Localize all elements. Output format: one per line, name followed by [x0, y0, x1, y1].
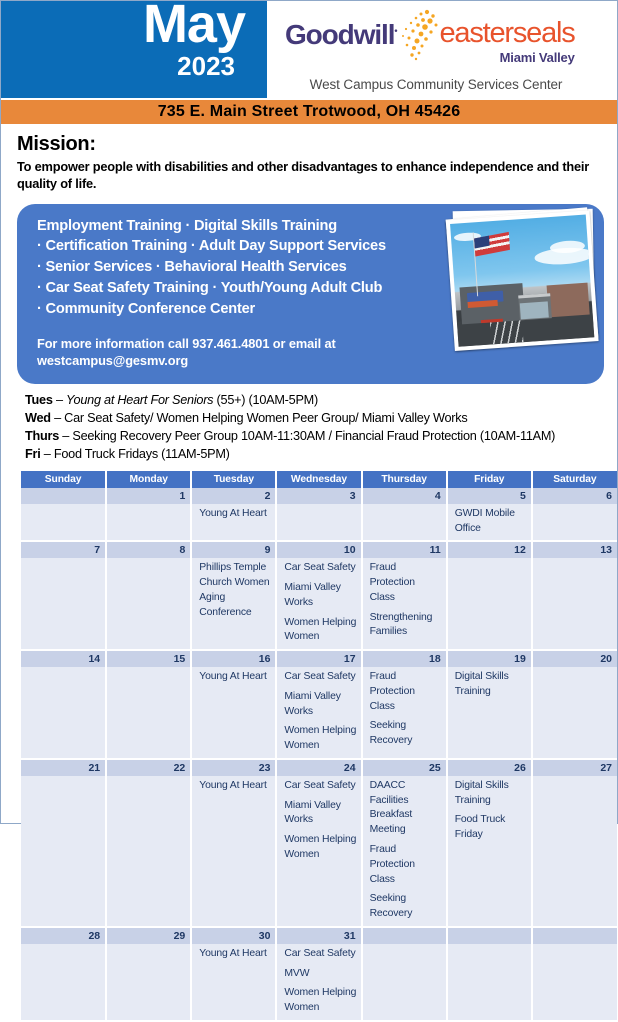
- photo-frame: [446, 210, 599, 351]
- calendar-day-cell[interactable]: [362, 504, 447, 542]
- calendar-daynum-row: 123456: [21, 488, 617, 504]
- weekday-label: Thurs: [25, 429, 59, 443]
- dash: –: [59, 429, 72, 443]
- calendar-body: 123456Young At HeartGWDI Mobile Office78…: [21, 488, 617, 1021]
- calendar-day-cell[interactable]: Car Seat SafetyMiami Valley WorksWomen H…: [276, 776, 361, 927]
- calendar-day-cell[interactable]: Car Seat SafetyMiami Valley WorksWomen H…: [276, 558, 361, 650]
- goodwill-wordmark: Goodwill•: [285, 9, 396, 49]
- services-section: Employment Training · Digital Skills Tra…: [17, 204, 604, 384]
- day-number: [532, 927, 617, 944]
- calendar-day-cell[interactable]: [21, 504, 106, 542]
- weekly-schedule: Tues – Young at Heart For Seniors (55+) …: [25, 391, 603, 463]
- calendar-header-row: SundayMondayTuesdayWednesdayThursdayFrid…: [21, 471, 617, 488]
- contact-email-line: westcampus@gesmv.org: [37, 353, 588, 370]
- calendar-day-cell[interactable]: [276, 504, 361, 542]
- brick-wing: [547, 282, 590, 317]
- service-line: · Car Seat Safety Training · Youth/Young…: [37, 278, 457, 299]
- weekday-label: Tues: [25, 393, 53, 407]
- calendar-event[interactable]: Young At Heart: [199, 947, 271, 962]
- calendar-week-row: Phillips Temple Church Women Aging Confe…: [21, 558, 617, 650]
- easterseals-wordmark: easterseals: [439, 19, 574, 48]
- calendar-day-cell[interactable]: [21, 776, 106, 927]
- service-line: · Senior Services · Behavioral Health Se…: [37, 257, 457, 278]
- calendar-event[interactable]: Women Helping Women: [284, 833, 356, 863]
- calendar-column-header-sunday: Sunday: [21, 471, 106, 488]
- dash: –: [40, 447, 53, 461]
- calendar-day-cell[interactable]: Fraud Protection ClassStrengthening Fami…: [362, 558, 447, 650]
- month-block: May 2023: [1, 1, 267, 98]
- day-number: 2: [191, 488, 276, 504]
- day-number: 3: [276, 488, 361, 504]
- day-number: [362, 927, 447, 944]
- day-number: 14: [21, 650, 106, 667]
- mission-section: Mission: To empower people with disabili…: [1, 124, 617, 197]
- calendar-week-row: Young At HeartCar Seat SafetyMiami Valle…: [21, 667, 617, 759]
- calendar-column-header-wednesday: Wednesday: [276, 471, 361, 488]
- day-number: 16: [191, 650, 276, 667]
- handrail: [490, 320, 524, 344]
- calendar-event[interactable]: Young At Heart: [199, 507, 271, 522]
- calendar-day-cell[interactable]: [21, 944, 106, 1021]
- day-number: 24: [276, 759, 361, 776]
- calendar-event[interactable]: Young At Heart: [199, 670, 271, 685]
- calendar-column-header-saturday: Saturday: [532, 471, 617, 488]
- calendar-event[interactable]: Seeking Recovery: [370, 892, 442, 922]
- day-number: 9: [191, 541, 276, 558]
- calendar-event[interactable]: Miami Valley Works: [284, 581, 356, 611]
- calendar-day-cell[interactable]: Fraud Protection ClassSeeking Recovery: [362, 667, 447, 759]
- service-line: · Certification Training · Adult Day Sup…: [37, 236, 457, 257]
- building-photo: [445, 205, 602, 351]
- day-number: 22: [106, 759, 191, 776]
- entrance-glass: [520, 301, 550, 319]
- services-box: Employment Training · Digital Skills Tra…: [17, 204, 604, 384]
- calendar-column-header-tuesday: Tuesday: [191, 471, 276, 488]
- program-name-italic: Young at Heart For Seniors: [66, 393, 213, 407]
- calendar-day-cell[interactable]: Phillips Temple Church Women Aging Confe…: [191, 558, 276, 650]
- day-number: 18: [362, 650, 447, 667]
- calendar-day-cell[interactable]: Young At Heart: [191, 944, 276, 1021]
- calendar-day-cell[interactable]: [532, 558, 617, 650]
- day-number: [447, 927, 532, 944]
- weekly-schedule-row: Thurs – Seeking Recovery Peer Group 10AM…: [25, 427, 603, 445]
- calendar-event[interactable]: Car Seat Safety: [284, 947, 356, 962]
- day-number: 12: [447, 541, 532, 558]
- mission-title: Mission:: [17, 133, 603, 156]
- calendar-day-cell[interactable]: Digital Skills TrainingFood Truck Friday: [447, 776, 532, 927]
- calendar-day-cell[interactable]: Young At Heart: [191, 776, 276, 927]
- calendar-event[interactable]: Fraud Protection Class: [370, 670, 442, 714]
- header-band: May 2023 Goodwill•: [1, 1, 617, 98]
- schedule-detail: Car Seat Safety/ Women Helping Women Pee…: [64, 411, 467, 425]
- schedule-detail: (55+) (10AM-5PM): [213, 393, 318, 407]
- calendar-event[interactable]: Food Truck Friday: [455, 813, 527, 843]
- calendar-event[interactable]: Women Helping Women: [284, 986, 356, 1016]
- calendar-daynum-row: 78910111213: [21, 541, 617, 558]
- weekly-schedule-row: Wed – Car Seat Safety/ Women Helping Wom…: [25, 409, 603, 427]
- calendar-day-cell[interactable]: [106, 776, 191, 927]
- day-number: 23: [191, 759, 276, 776]
- day-number: 30: [191, 927, 276, 944]
- calendar-event[interactable]: Strengthening Families: [370, 611, 442, 641]
- calendar-day-cell[interactable]: Car Seat SafetyMVWWomen Helping Women: [276, 944, 361, 1021]
- address-band: 735 E. Main Street Trotwood, OH 45426: [1, 98, 617, 124]
- day-number: [21, 488, 106, 504]
- calendar-daynum-row: 21222324252627: [21, 759, 617, 776]
- day-number: 21: [21, 759, 106, 776]
- calendar-event[interactable]: DAACC Facilities Breakfast Meeting: [370, 779, 442, 838]
- day-number: 31: [276, 927, 361, 944]
- photo-image: [450, 214, 594, 346]
- calendar-day-cell[interactable]: [532, 504, 617, 542]
- calendar-day-cell[interactable]: Young At Heart: [191, 667, 276, 759]
- dash: –: [53, 393, 66, 407]
- calendar-day-cell[interactable]: [106, 667, 191, 759]
- day-number: 20: [532, 650, 617, 667]
- calendar-event[interactable]: MVW: [284, 967, 356, 982]
- day-number: 17: [276, 650, 361, 667]
- calendar-event[interactable]: Car Seat Safety: [284, 779, 356, 794]
- day-number: 5: [447, 488, 532, 504]
- calendar-day-cell[interactable]: [447, 558, 532, 650]
- campus-name: West Campus Community Services Center: [267, 77, 605, 92]
- day-number: 11: [362, 541, 447, 558]
- calendar-day-cell[interactable]: [362, 944, 447, 1021]
- weekly-schedule-row: Fri – Food Truck Fridays (11AM-5PM): [25, 445, 603, 463]
- registered-trademark-icon: •: [394, 26, 396, 36]
- goodwill-text: Goodwill: [285, 19, 394, 50]
- calendar-week-row: Young At HeartCar Seat SafetyMiami Valle…: [21, 776, 617, 927]
- dash: –: [51, 411, 64, 425]
- schedule-detail: Seeking Recovery Peer Group 10AM-11:30AM…: [72, 429, 555, 443]
- service-line: Employment Training · Digital Skills Tra…: [37, 216, 457, 237]
- calendar-day-cell[interactable]: [532, 944, 617, 1021]
- schedule-detail: Food Truck Fridays (11AM-5PM): [54, 447, 230, 461]
- calendar-event[interactable]: Fraud Protection Class: [370, 561, 442, 605]
- calendar-event[interactable]: Phillips Temple Church Women Aging Confe…: [199, 561, 271, 620]
- calendar-day-cell[interactable]: [447, 944, 532, 1021]
- calendar-day-cell[interactable]: DAACC Facilities Breakfast MeetingFraud …: [362, 776, 447, 927]
- calendar-daynum-row: 14151617181920: [21, 650, 617, 667]
- weekday-label: Fri: [25, 447, 40, 461]
- day-number: 25: [362, 759, 447, 776]
- calendar-event[interactable]: Digital Skills Training: [455, 779, 527, 809]
- logo-zone: Goodwill•: [267, 1, 617, 98]
- day-number: 13: [532, 541, 617, 558]
- day-number: 27: [532, 759, 617, 776]
- calendar-day-cell[interactable]: [532, 667, 617, 759]
- weekday-label: Wed: [25, 411, 51, 425]
- calendar-column-header-thursday: Thursday: [362, 471, 447, 488]
- calendar-week-row: Young At HeartCar Seat SafetyMVWWomen He…: [21, 944, 617, 1021]
- day-number: 8: [106, 541, 191, 558]
- calendar-day-cell[interactable]: Car Seat SafetyMiami Valley WorksWomen H…: [276, 667, 361, 759]
- calendar-event[interactable]: Car Seat Safety: [284, 670, 356, 685]
- calendar-column-header-monday: Monday: [106, 471, 191, 488]
- brand-logo: Goodwill•: [285, 9, 575, 65]
- month-year: 2023: [177, 53, 235, 79]
- day-number: 28: [21, 927, 106, 944]
- calendar-day-cell[interactable]: [21, 558, 106, 650]
- day-number: 1: [106, 488, 191, 504]
- calendar-week-row: Young At HeartGWDI Mobile Office: [21, 504, 617, 542]
- easterseals-lockup: easterseals Miami Valley: [439, 9, 574, 65]
- day-number: 29: [106, 927, 191, 944]
- calendar-event[interactable]: GWDI Mobile Office: [455, 507, 527, 537]
- calendar-event[interactable]: Women Helping Women: [284, 724, 356, 754]
- mission-text: To empower people with disabilities and …: [17, 158, 603, 193]
- calendar-day-cell[interactable]: [21, 667, 106, 759]
- calendar-event[interactable]: Car Seat Safety: [284, 561, 356, 576]
- sunburst-dots-icon: [397, 9, 441, 61]
- calendar-event[interactable]: Fraud Protection Class: [370, 843, 442, 887]
- calendar-day-cell[interactable]: [106, 504, 191, 542]
- calendar-event[interactable]: Miami Valley Works: [284, 690, 356, 720]
- calendar-column-header-friday: Friday: [447, 471, 532, 488]
- month-name: May: [143, 0, 245, 51]
- day-number: 15: [106, 650, 191, 667]
- weekly-schedule-row: Tues – Young at Heart For Seniors (55+) …: [25, 391, 603, 409]
- calendar-day-cell[interactable]: [106, 558, 191, 650]
- calendar-day-cell[interactable]: GWDI Mobile Office: [447, 504, 532, 542]
- day-number: 7: [21, 541, 106, 558]
- flyer-page: May 2023 Goodwill•: [0, 0, 618, 824]
- service-line: · Community Conference Center: [37, 299, 457, 320]
- day-number: 19: [447, 650, 532, 667]
- calendar-event[interactable]: Seeking Recovery: [370, 719, 442, 749]
- calendar-table: SundayMondayTuesdayWednesdayThursdayFrid…: [21, 471, 617, 1022]
- calendar-event[interactable]: Young At Heart: [199, 779, 271, 794]
- calendar-event[interactable]: Digital Skills Training: [455, 670, 527, 700]
- day-number: 26: [447, 759, 532, 776]
- calendar-daynum-row: 28293031: [21, 927, 617, 944]
- calendar-day-cell[interactable]: [532, 776, 617, 927]
- calendar-header: SundayMondayTuesdayWednesdayThursdayFrid…: [21, 471, 617, 488]
- calendar-day-cell[interactable]: Digital Skills Training: [447, 667, 532, 759]
- calendar-day-cell[interactable]: [106, 944, 191, 1021]
- calendar-event[interactable]: Women Helping Women: [284, 616, 356, 646]
- day-number: 4: [362, 488, 447, 504]
- calendar-day-cell[interactable]: Young At Heart: [191, 504, 276, 542]
- region-label: Miami Valley: [439, 50, 574, 65]
- day-number: 6: [532, 488, 617, 504]
- day-number: 10: [276, 541, 361, 558]
